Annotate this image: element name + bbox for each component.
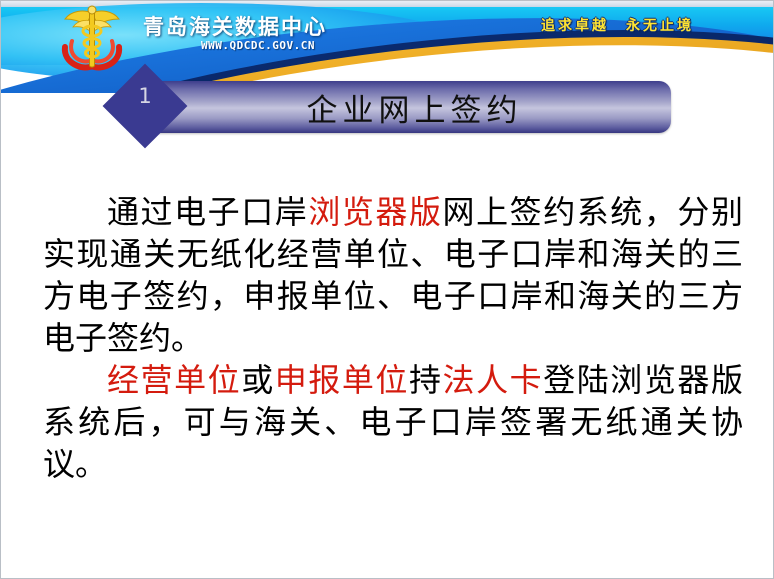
organization-url: WWW.QDCDC.GOV.CN [201, 39, 315, 52]
body-text-run: 通过电子口岸 [107, 194, 308, 230]
organization-title: 青岛海关数据中心 [143, 11, 327, 41]
highlighted-term: 经营单位 [107, 362, 241, 398]
header-slogan: 追求卓越 永无止境 [541, 15, 694, 35]
paragraph-1: 通过电子口岸浏览器版网上签约系统，分别实现通关无纸化经营单位、电子口岸和海关的三… [43, 191, 743, 359]
slide-title: 企业网上签约 [153, 81, 671, 133]
body-text-run: 持 [409, 362, 443, 398]
slide-number-label: 1 [115, 76, 175, 136]
slide-title-bar: 企业网上签约 [153, 81, 671, 133]
qingdao-customs-emblem-icon [53, 3, 131, 73]
paragraph-2: 经营单位或申报单位持法人卡登陆浏览器版系统后，可与海关、电子口岸签署无纸通关协议… [43, 359, 743, 485]
highlighted-term: 法人卡 [443, 362, 544, 398]
highlighted-term: 申报单位 [275, 362, 409, 398]
presentation-slide: 青岛海关数据中心 WWW.QDCDC.GOV.CN 追求卓越 永无止境 企业网上… [0, 0, 774, 579]
highlighted-term: 浏览器版 [308, 194, 442, 230]
slide-body-text: 通过电子口岸浏览器版网上签约系统，分别实现通关无纸化经营单位、电子口岸和海关的三… [43, 191, 743, 485]
body-text-run: 或 [241, 362, 275, 398]
